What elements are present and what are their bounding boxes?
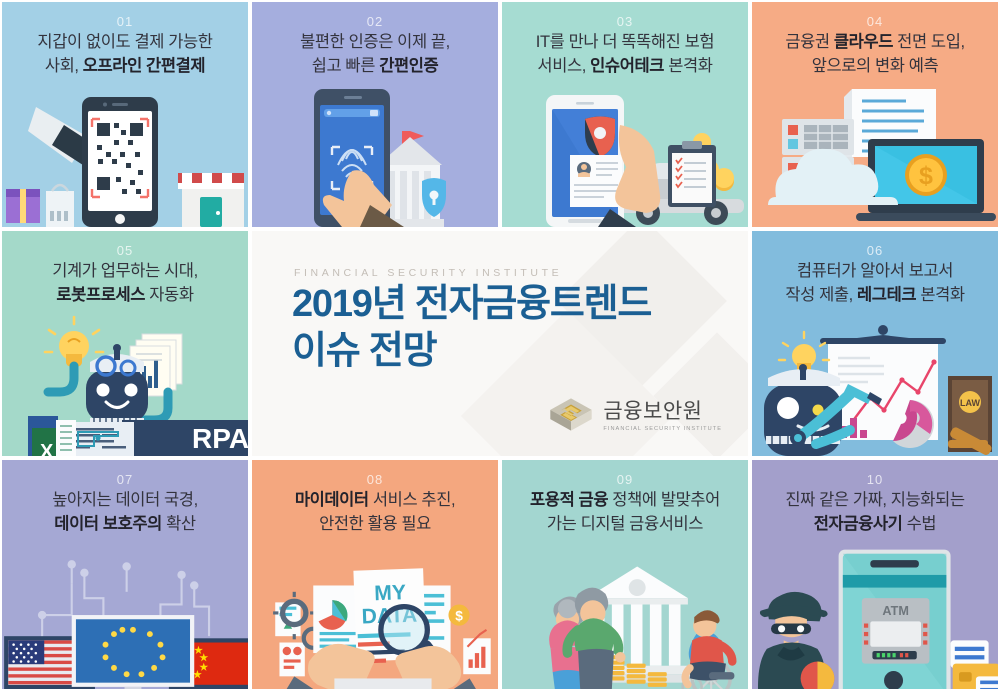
panel-06-line2-bold: 레그테크: [857, 286, 916, 304]
panel-08-line1-post: 서비스 추진,: [369, 491, 455, 509]
mydata-illustration: $ MY DATA: [252, 539, 498, 689]
panel-02-title: 불편한 인증은 이제 끝, 쉽고 빠른 간편인증: [260, 30, 490, 79]
panel-06-line2-post: 본격화: [916, 286, 965, 304]
panel-08-title: 마이데이터 서비스 추진, 안전한 활용 필요: [260, 488, 490, 537]
panel-06-number: 06: [752, 243, 998, 258]
panel-05-number: 05: [2, 243, 248, 258]
svg-text:$: $: [919, 162, 933, 190]
panel-03-line2-post: 본격화: [664, 57, 713, 75]
panel-07-line1: 높아지는 데이터 국경,: [52, 491, 198, 509]
panel-01-line2-pre: 사회,: [45, 57, 83, 75]
panel-10-line2-post: 수법: [902, 515, 936, 533]
panel-04-line2: 앞으로의 변화 예측: [812, 57, 939, 75]
panel-01-line1: 지갑이 없이도 결제 가능한: [37, 33, 212, 51]
panel-02-line2-pre: 쉽고 빠른: [312, 57, 380, 75]
infographic-board: 01 지갑이 없이도 결제 가능한 사회, 오프라인 간편결제: [0, 0, 1000, 691]
panel-04-line1-pre: 금융권: [785, 33, 834, 51]
fsi-logo-mark: [548, 396, 594, 436]
inclusive-finance-illustration: [502, 539, 748, 689]
panel-02-number: 02: [252, 14, 498, 29]
panel-05-line2-post: 자동화: [145, 286, 194, 304]
panel-08: 08 마이데이터 서비스 추진, 안전한 활용 필요: [250, 458, 500, 691]
svg-text:ATM: ATM: [882, 604, 908, 618]
panel-10-number: 10: [752, 472, 998, 487]
panel-08-line1-bold: 마이데이터: [295, 491, 369, 509]
panel-08-line2: 안전한 활용 필요: [319, 515, 431, 533]
fraud-atm-illustration: ATM: [752, 539, 998, 689]
panel-01: 01 지갑이 없이도 결제 가능한 사회, 오프라인 간편결제: [0, 0, 250, 229]
svg-text:RPA: RPA: [192, 423, 248, 454]
panel-09-line1-post: 정책에 발맞추어: [608, 491, 720, 509]
panel-07: 07 높아지는 데이터 국경, 데이터 보호주의 확산: [0, 458, 250, 691]
fsi-logo-name-en: FINANCIAL SECURITY INSTITUTE: [603, 426, 722, 432]
panel-01-title: 지갑이 없이도 결제 가능한 사회, 오프라인 간편결제: [10, 30, 240, 79]
panel-10: 10 진짜 같은 가짜, 지능화되는 전자금융사기 수법 ATM: [750, 458, 1000, 691]
panel-04-title: 금융권 클라우드 전면 도입, 앞으로의 변화 예측: [760, 30, 990, 79]
panel-10-line2-bold: 전자금융사기: [814, 515, 903, 533]
panel-07-number: 07: [2, 472, 248, 487]
panel-04: 04 금융권 클라우드 전면 도입, 앞으로의 변화 예측: [750, 0, 1000, 229]
panel-03-line2-pre: 서비스,: [537, 57, 590, 75]
regtech-robot-illustration: LAW: [752, 314, 998, 456]
panel-02-line1: 불편한 인증은 이제 끝,: [300, 33, 450, 51]
fingerprint-auth-illustration: [252, 85, 498, 227]
panel-04-line1-bold: 클라우드: [834, 33, 893, 51]
panel-05: 05 기계가 업무하는 시대, 로봇프로세스 자동화: [0, 229, 250, 458]
svg-text:$: $: [455, 608, 463, 623]
panel-09-number: 09: [502, 472, 748, 487]
svg-text:X: X: [40, 441, 54, 456]
svg-text:LAW: LAW: [960, 398, 981, 408]
panel-05-line2-bold: 로봇프로세스: [56, 286, 145, 304]
panel-06-line1: 컴퓨터가 알아서 보고서: [797, 262, 953, 280]
panel-09-title: 포용적 금융 정책에 발맞추어 가는 디지털 금융서비스: [510, 488, 740, 537]
panel-07-line2-post: 확산: [162, 515, 196, 533]
panel-01-number: 01: [2, 14, 248, 29]
panel-02-line2-bold: 간편인증: [379, 57, 438, 75]
panel-01-line2-bold: 오프라인 간편결제: [83, 57, 205, 75]
panel-04-line1-post: 전면 도입,: [893, 33, 965, 51]
panel-09-line2: 가는 디지털 금융서비스: [547, 515, 703, 533]
fsi-logo: 금융보안원 FINANCIAL SECURITY INSTITUTE: [548, 396, 722, 436]
panel-06: 06 컴퓨터가 알아서 보고서 작성 제출, 레그테크 본격화: [750, 229, 1000, 458]
fsi-logo-name-ko: 금융보안원: [603, 400, 722, 423]
panel-03: 03 IT를 만나 더 똑똑해진 보험 서비스, 인슈어테크 본격화: [500, 0, 750, 229]
panel-04-number: 04: [752, 14, 998, 29]
panel-07-line2-bold: 데이터 보호주의: [54, 515, 162, 533]
panel-05-line1: 기계가 업무하는 시대,: [52, 262, 198, 280]
rpa-robot-illustration: RPA W X: [2, 314, 248, 456]
center-main-title: 2019년 전자금융트렌드 이슈 전망: [292, 281, 651, 375]
panel-03-line2-bold: 인슈어테크: [590, 57, 664, 75]
qr-payment-illustration: [2, 85, 248, 227]
panel-03-number: 03: [502, 14, 748, 29]
panel-02: 02 불편한 인증은 이제 끝, 쉽고 빠른 간편인증: [250, 0, 500, 229]
center-title-block: FINANCIAL SECURITY INSTITUTE 2019년 전자금융트…: [250, 229, 750, 458]
panel-10-line1: 진짜 같은 가짜, 지능화되는: [785, 491, 964, 509]
panel-09-line1-bold: 포용적 금융: [530, 491, 608, 509]
panel-07-title: 높아지는 데이터 국경, 데이터 보호주의 확산: [10, 488, 240, 537]
panel-08-number: 08: [252, 472, 498, 487]
panel-06-line2-pre: 작성 제출,: [785, 286, 857, 304]
panel-10-title: 진짜 같은 가짜, 지능화되는 전자금융사기 수법: [760, 488, 990, 537]
svg-text:MY: MY: [374, 581, 406, 605]
cloud-server-illustration: $: [752, 85, 998, 227]
panel-05-title: 기계가 업무하는 시대, 로봇프로세스 자동화: [10, 259, 240, 308]
panel-03-title: IT를 만나 더 똑똑해진 보험 서비스, 인슈어테크 본격화: [510, 30, 740, 79]
panel-09: 09 포용적 금융 정책에 발맞추어 가는 디지털 금융서비스: [500, 458, 750, 691]
insurtech-illustration: [502, 85, 748, 227]
panel-03-line1: IT를 만나 더 똑똑해진 보험: [536, 33, 714, 51]
data-sovereignty-illustration: [2, 539, 248, 689]
center-kicker: FINANCIAL SECURITY INSTITUTE: [294, 267, 562, 279]
panel-06-title: 컴퓨터가 알아서 보고서 작성 제출, 레그테크 본격화: [760, 259, 990, 308]
